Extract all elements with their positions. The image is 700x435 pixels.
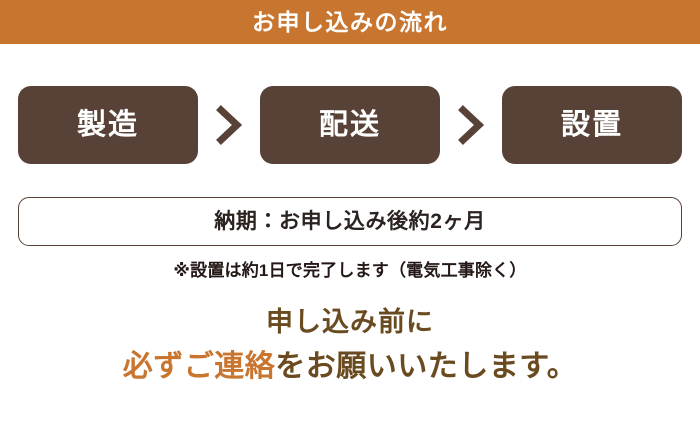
step-flow-row: 製造 配送 設置 — [18, 86, 682, 164]
step-box-installation: 設置 — [502, 86, 682, 164]
page-title: お申し込みの流れ — [252, 11, 448, 34]
chevron-right-icon — [458, 105, 484, 145]
closing-message-rest: をお願いいたします。 — [275, 350, 577, 383]
chevron-right-icon — [216, 105, 242, 145]
application-flow-panel: お申し込みの流れ 製造 配送 設置 — [0, 0, 700, 435]
closing-message: 申し込み前に 必ずご連絡をお願いいたします。 — [0, 305, 700, 386]
closing-message-accent: 必ずご連絡 — [123, 350, 276, 383]
installation-note: ※設置は約1日で完了します（電気工事除く） — [0, 262, 700, 281]
step-label-delivery: 配送 — [319, 111, 381, 140]
step-label-manufacturing: 製造 — [77, 111, 139, 140]
step-separator-1 — [206, 86, 252, 164]
closing-message-line2: 必ずご連絡をお願いいたします。 — [0, 348, 700, 386]
delivery-period-label: 納期：お申し込み後約2ヶ月 — [214, 211, 485, 232]
header-band: お申し込みの流れ — [0, 0, 700, 44]
step-box-delivery: 配送 — [260, 86, 440, 164]
delivery-period-box: 納期：お申し込み後約2ヶ月 — [18, 197, 682, 246]
closing-message-line1: 申し込み前に — [0, 305, 700, 340]
step-label-installation: 設置 — [561, 111, 623, 140]
installation-note-text: ※設置は約1日で完了します（電気工事除く） — [173, 261, 526, 280]
step-box-manufacturing: 製造 — [18, 86, 198, 164]
step-separator-2 — [448, 86, 494, 164]
